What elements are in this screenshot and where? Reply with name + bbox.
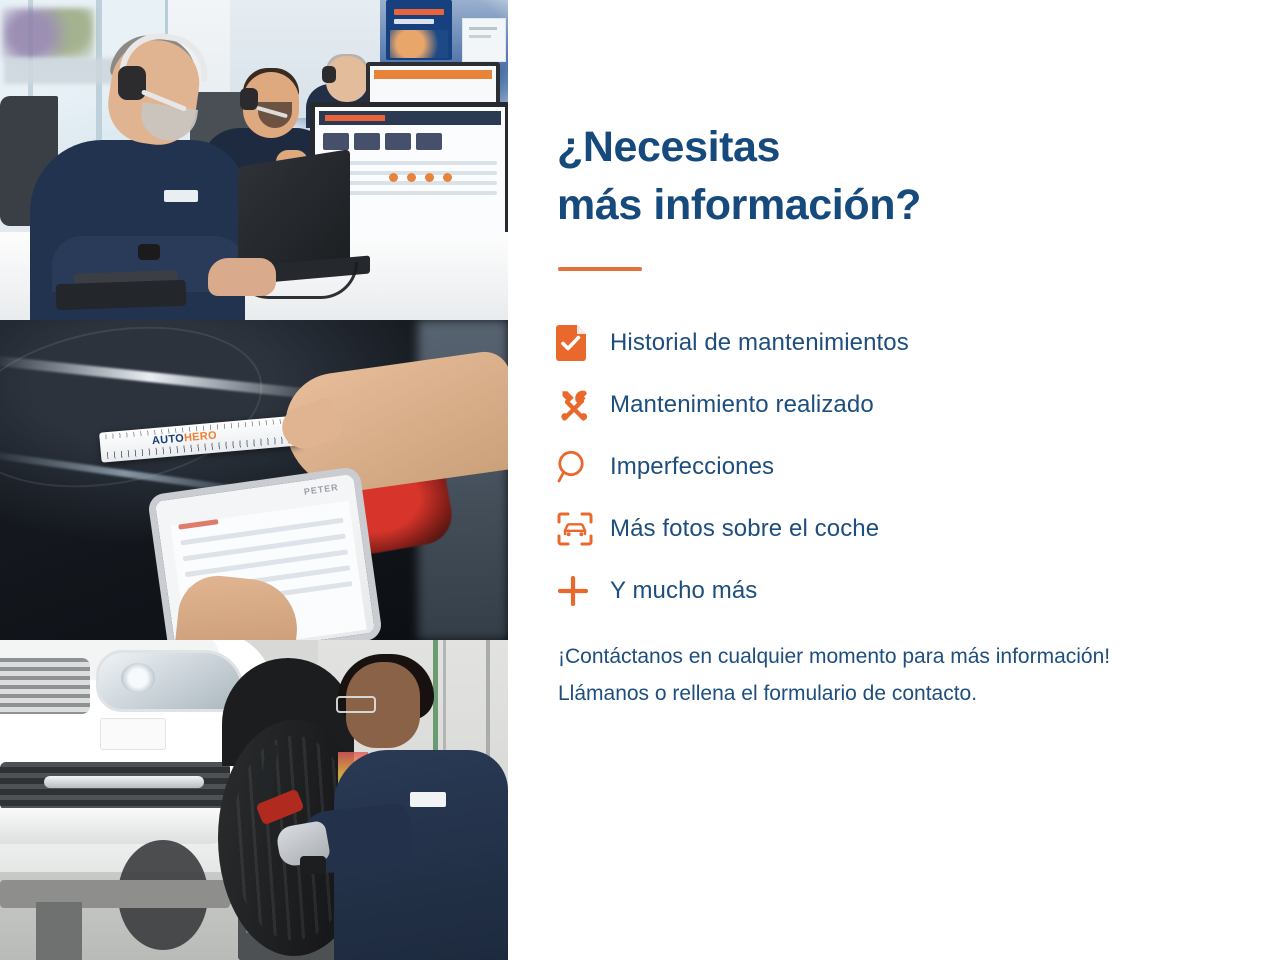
car-bumper — [0, 808, 230, 844]
feature-item-imperfecciones: Imperfecciones — [556, 436, 1076, 498]
feature-label: Más fotos sobre el coche — [610, 515, 879, 543]
greenery-decor — [2, 8, 94, 60]
feature-list: Historial de mantenimientos M — [556, 312, 1076, 622]
agent-one-polo-logo — [164, 190, 198, 202]
agent-one-hand-right — [208, 258, 276, 296]
agent-three-headset — [322, 66, 336, 83]
tablet-brand-label: PETER — [303, 482, 339, 497]
feature-item-historial: Historial de mantenimientos — [556, 312, 1076, 374]
wall-poster-secondary — [390, 30, 448, 58]
feature-label: Imperfecciones — [610, 453, 774, 481]
chrome-trim — [44, 776, 204, 788]
tools-wrench-screwdriver-icon — [556, 387, 610, 423]
title-divider — [558, 267, 642, 271]
contact-line-1: ¡Contáctanos en cualquier momento para m… — [558, 638, 1238, 675]
workshop-wheel-photo — [0, 640, 508, 960]
car-grille — [0, 658, 90, 714]
content-panel: ¿Necesitas más información? Historial de… — [508, 0, 1280, 960]
feature-item-mas: Y mucho más — [556, 560, 1076, 622]
feature-label: Historial de mantenimientos — [610, 329, 909, 357]
mechanic-glasses — [336, 696, 376, 713]
feature-label: Mantenimiento realizado — [610, 391, 874, 419]
document-check-icon — [556, 325, 610, 361]
tablet-on-desk — [56, 280, 187, 311]
car-lift-platform — [0, 880, 230, 908]
magnifier-icon — [556, 450, 610, 484]
feature-item-mantenimiento: Mantenimiento realizado — [556, 374, 1076, 436]
car-inspection-ruler-photo: AUTOHERO PETER — [0, 320, 508, 640]
car-lift-leg — [36, 902, 82, 960]
page-title-line-2: más información? — [557, 176, 977, 234]
promo-banner: AUTOHERO PETER — [0, 0, 1280, 960]
page-title-line-1: ¿Necesitas — [557, 118, 977, 176]
page-title: ¿Necesitas más información? — [557, 118, 977, 234]
mechanic-polo-logo — [410, 792, 446, 807]
photo-column: AUTOHERO PETER — [0, 0, 508, 960]
agent-two-headset — [240, 88, 258, 110]
feature-item-fotos: Más fotos sobre el coche — [556, 498, 1076, 560]
noticeboard-decor — [462, 18, 506, 62]
agent-one-watch — [138, 244, 160, 260]
contact-line-2: Llámanos o rellena el formulario de cont… — [558, 675, 1238, 712]
call-center-agents-photo — [0, 0, 508, 320]
car-headlight — [96, 650, 244, 712]
contact-text: ¡Contáctanos en cualquier momento para m… — [558, 638, 1238, 712]
body-panel-curve — [0, 320, 275, 509]
feature-label: Y mucho más — [610, 577, 757, 605]
agent-one-headset-cup — [118, 66, 146, 100]
mechanic-watch — [300, 856, 326, 874]
licence-plate-area — [100, 718, 166, 750]
car-photo-frame-icon — [556, 511, 610, 547]
plus-icon — [556, 574, 610, 608]
